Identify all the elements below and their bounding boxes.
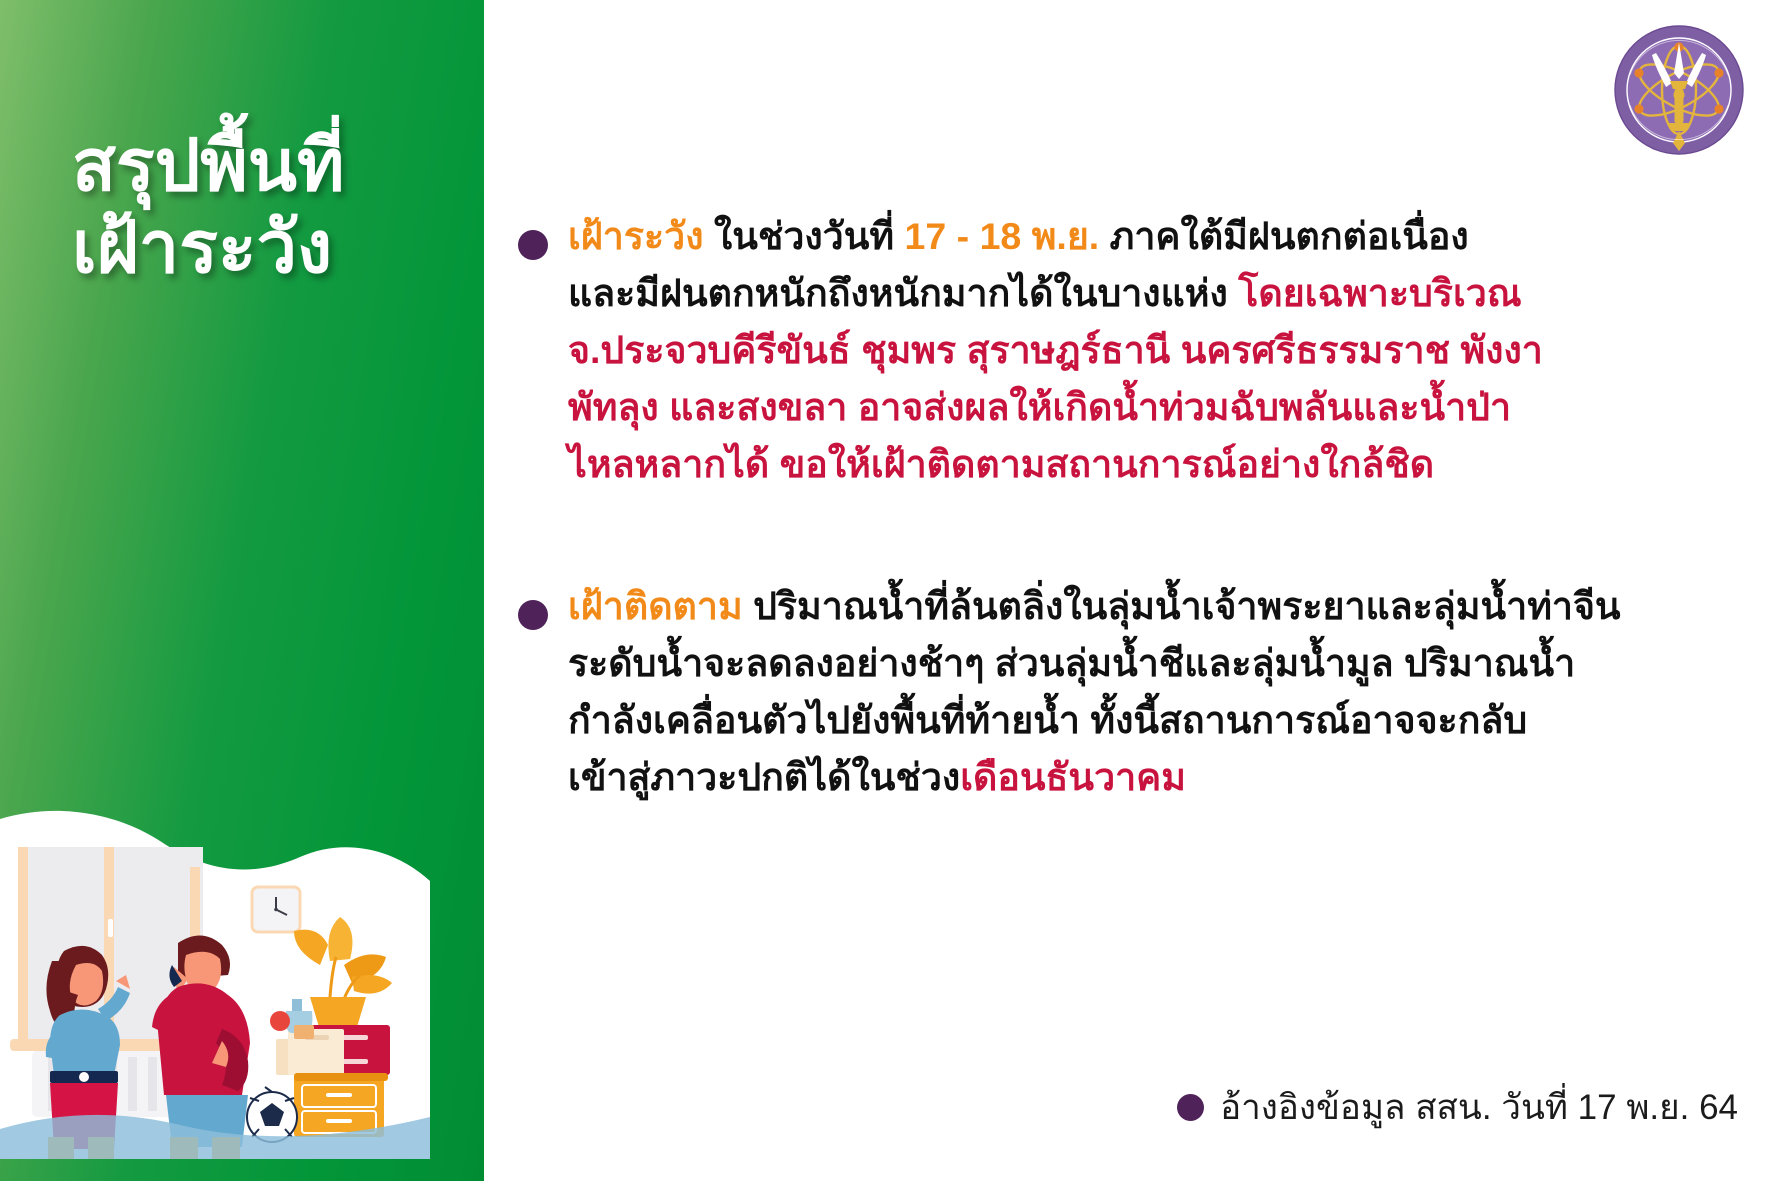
flooded-room-illustration — [0, 729, 430, 1159]
bullet-watch-alert: เฝ้าระวัง ในช่วงวันที่ 17 - 18 พ.ย. ภาคใ… — [518, 208, 1718, 493]
text-line: เข้าสู่ภาวะปกติได้ในช่วงเดือนธันวาคม — [568, 749, 1748, 806]
text-run: เข้าสู่ภาวะปกติได้ในช่วง — [568, 756, 960, 798]
text-run: ในช่วงวันที่ — [714, 215, 905, 257]
text-line: เฝ้าระวัง ในช่วงวันที่ 17 - 18 พ.ย. ภาคใ… — [568, 208, 1718, 265]
bullet-monitor: เฝ้าติดตาม ปริมาณน้ำที่ล้นตลิ่งในลุ่มน้ำ… — [518, 578, 1748, 806]
text-line: ระดับน้ำจะลดลงอย่างช้าๆ ส่วนลุ่มน้ำชีและ… — [568, 635, 1748, 692]
source-reference: อ้างอิงข้อมูล สสน. วันที่ 17 พ.ย. 64 — [498, 1080, 1772, 1135]
bullet-watch-alert-text: เฝ้าระวัง ในช่วงวันที่ 17 - 18 พ.ย. ภาคใ… — [568, 208, 1718, 493]
text-run: ภาคใต้มีฝนตกต่อเนื่อง — [1110, 215, 1469, 257]
text-run: ปริมาณน้ำที่ล้นตลิ่งในลุ่มน้ำเจ้าพระยาแล… — [753, 585, 1620, 627]
text-run: ระดับน้ำจะลดลงอย่างช้าๆ ส่วนลุ่มน้ำชีและ… — [568, 642, 1575, 684]
bullet-dot-icon — [1177, 1094, 1204, 1121]
bullet-dot-icon — [518, 230, 548, 260]
text-line: กำลังเคลื่อนตัวไปยังพื้นที่ท้ายน้ำ ทั้งน… — [568, 692, 1748, 749]
page-title: สรุปพื้นที่ เฝ้าระวัง — [72, 125, 344, 289]
text-run: กำลังเคลื่อนตัวไปยังพื้นที่ท้ายน้ำ ทั้งน… — [568, 699, 1527, 741]
text-run: เฝ้าระวัง — [568, 215, 714, 257]
text-line: จ.ประจวบคีรีขันธ์ ชุมพร สุราษฎร์ธานี นคร… — [568, 322, 1718, 379]
text-run: พัทลุง และสงขลา อาจส่งผลให้เกิดน้ำท่วมฉั… — [568, 386, 1511, 428]
source-reference-text: อ้างอิงข้อมูล สสน. วันที่ 17 พ.ย. 64 — [1220, 1080, 1738, 1135]
left-green-panel: สรุปพื้นที่ เฝ้าระวัง — [0, 0, 484, 1181]
text-run: 17 - 18 พ.ย. — [905, 215, 1110, 257]
text-run: โดยเฉพาะบริเวณ — [1238, 272, 1521, 314]
text-line: พัทลุง และสงขลา อาจส่งผลให้เกิดน้ำท่วมฉั… — [568, 379, 1718, 436]
text-run: จ.ประจวบคีรีขันธ์ ชุมพร สุราษฎร์ธานี นคร… — [568, 329, 1543, 371]
text-line: และมีฝนตกหนักถึงหนักมากได้ในบางแห่ง โดยเ… — [568, 265, 1718, 322]
bullet-dot-icon — [518, 600, 548, 630]
bullet-monitor-text: เฝ้าติดตาม ปริมาณน้ำที่ล้นตลิ่งในลุ่มน้ำ… — [568, 578, 1748, 806]
text-run: เดือนธันวาคม — [960, 756, 1186, 798]
text-run: เฝ้าติดตาม — [568, 585, 753, 627]
content-area: เฝ้าระวัง ในช่วงวันที่ 17 - 18 พ.ย. ภาคใ… — [498, 0, 1772, 1181]
text-line: เฝ้าติดตาม ปริมาณน้ำที่ล้นตลิ่งในลุ่มน้ำ… — [568, 578, 1748, 635]
text-run: และมีฝนตกหนักถึงหนักมากได้ในบางแห่ง — [568, 272, 1238, 314]
text-run: ไหลหลากได้ ขอให้เฝ้าติดตามสถานการณ์อย่าง… — [568, 443, 1434, 485]
text-line: ไหลหลากได้ ขอให้เฝ้าติดตามสถานการณ์อย่าง… — [568, 436, 1718, 493]
